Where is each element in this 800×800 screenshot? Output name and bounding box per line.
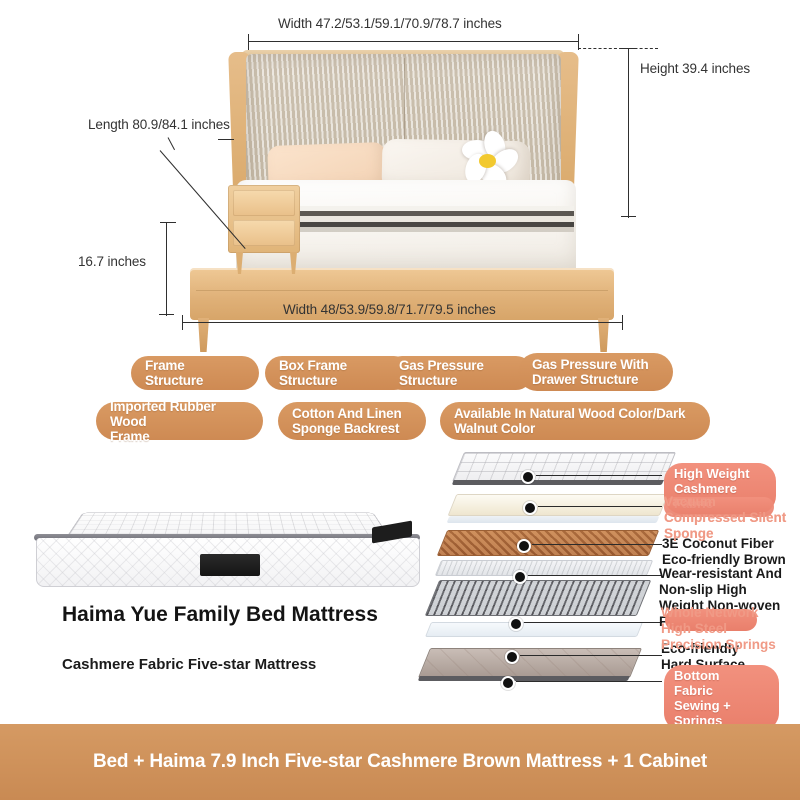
layer-label-springs: Whole Network High Steel Precision Sprin… — [661, 605, 800, 653]
layer-leader-1 — [536, 475, 662, 476]
dimension-width-bottom-tick-left — [182, 315, 183, 330]
dimension-height-label: Height 39.4 inches — [640, 61, 750, 76]
feature-pill-cotton-linen-sponge-backrest[interactable]: Cotton And Linen Sponge Backrest — [278, 402, 426, 440]
layer-marker-5 — [509, 617, 523, 631]
bed-leg-right — [598, 318, 609, 352]
feature-pill-gas-pressure-drawer-structure[interactable]: Gas Pressure With Drawer Structure — [518, 353, 673, 391]
layer-leader-5 — [524, 622, 662, 623]
dimension-width-bottom-line — [182, 322, 622, 323]
product-infographic: Width 47.2/53.1/59.1/70.9/78.7 inches He… — [0, 0, 800, 800]
layer-leader-3 — [532, 544, 662, 545]
dimension-clearance-label: 16.7 inches — [78, 254, 146, 269]
bottom-banner-text: Bed + Haima 7.9 Inch Five-star Cashmere … — [93, 751, 707, 773]
layer-marker-7 — [501, 676, 515, 690]
layer-leader-2 — [538, 506, 662, 507]
layer-marker-3 — [517, 539, 531, 553]
layer-marker-2 — [523, 501, 537, 515]
layer-nonwoven-fabric — [435, 560, 653, 576]
dimension-width-top-label: Width 47.2/53.1/59.1/70.9/78.7 inches — [278, 16, 502, 31]
dimension-width-top-tick-left — [248, 34, 249, 50]
layer-steel-springs — [425, 580, 652, 616]
dimension-clearance-tick-bottom — [159, 314, 174, 315]
layer-sponge-liner — [447, 516, 660, 523]
feature-pill-frame-structure[interactable]: Frame Structure — [131, 356, 259, 390]
mattress-subtitle: Cashmere Fabric Five-star Mattress — [62, 655, 372, 674]
dimension-clearance-line — [166, 222, 167, 316]
layer-leader-4 — [528, 575, 662, 576]
layer-leader-7 — [516, 681, 662, 682]
bottom-banner: Bed + Haima 7.9 Inch Five-star Cashmere … — [0, 724, 800, 800]
dimension-height-line — [628, 48, 629, 218]
layer-bottom-fabric — [418, 648, 642, 678]
layer-marker-1 — [521, 470, 535, 484]
layer-hard-surface — [425, 622, 643, 637]
bed-leg-left — [198, 318, 209, 352]
layer-marker-6 — [505, 650, 519, 664]
dimension-height-dash-top — [578, 48, 658, 49]
mattress-brand-logo — [200, 554, 260, 576]
layer-label-bottom-fabric: Bottom Fabric Sewing + Springs — [664, 665, 779, 731]
feature-pill-available-colors[interactable]: Available In Natural Wood Color/Dark Wal… — [440, 402, 710, 440]
dimension-height-tick-top — [621, 48, 636, 49]
dimension-length-tick-top — [218, 139, 234, 140]
mattress-product-image — [32, 458, 422, 598]
mattress-title: Haima Yue Family Bed Mattress — [62, 602, 382, 628]
dimension-length-label: Length 80.9/84.1 inches — [88, 117, 230, 132]
dimension-width-bottom-tick-right — [622, 315, 623, 330]
dimension-width-top-line — [248, 41, 578, 42]
nightstand-drawer-bottom — [233, 220, 295, 246]
layer-coconut-fiber — [437, 530, 660, 556]
bed-illustration — [150, 40, 650, 315]
layer-cashmere-fabric — [452, 452, 676, 482]
nightstand-drawer-top — [233, 190, 295, 216]
dimension-length-tick-bottom — [160, 222, 176, 223]
feature-pill-gas-pressure-structure[interactable]: Gas Pressure Structure — [385, 356, 533, 390]
layer-silent-sponge — [448, 494, 669, 516]
dimension-height-tick-bottom — [621, 216, 636, 217]
layer-label-silent-sponge-text: Vacuum Compressed Silent Sponge — [664, 494, 800, 542]
dimension-width-bottom-label: Width 48/53.9/59.8/71.7/79.5 inches — [283, 302, 496, 317]
layer-marker-4 — [513, 570, 527, 584]
feature-pill-imported-rubber-wood-frame[interactable]: Imported Rubber Wood Frame — [96, 402, 263, 440]
layer-leader-6 — [520, 655, 662, 656]
mattress-layer-diagram — [424, 452, 674, 710]
